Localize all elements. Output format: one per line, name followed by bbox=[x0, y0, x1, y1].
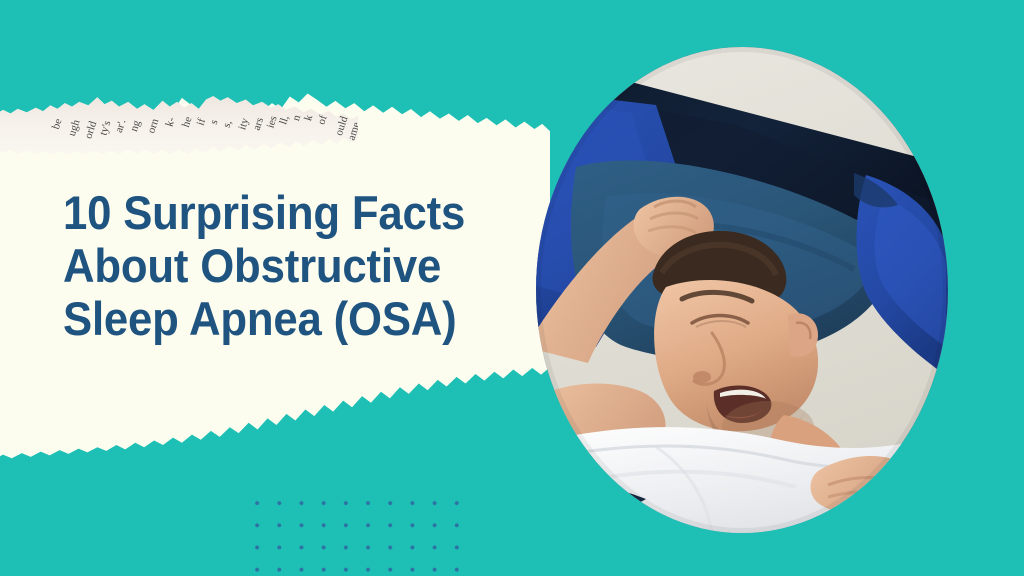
page-title: 10 Surprising Facts About Obstructive Sl… bbox=[63, 186, 500, 345]
newsprint-fragment: ar'. bbox=[113, 118, 129, 134]
sleeping-man-photo bbox=[536, 47, 948, 533]
newsprint-fragment: ty's bbox=[97, 119, 113, 137]
newsprint-fragment: s bbox=[208, 118, 221, 126]
newsprint-fragment: of bbox=[315, 114, 329, 126]
newsprint-fragment: ugh bbox=[66, 118, 83, 137]
headline-line-2: About Obstructive bbox=[63, 239, 500, 292]
newsprint-fragment: ng bbox=[128, 119, 143, 133]
newsprint-fragment: orld bbox=[82, 120, 99, 141]
newsprint-fragment: k bbox=[302, 114, 315, 123]
newsprint-fragment: ll, bbox=[277, 114, 291, 126]
banner-canvas: be ugh orld ty's ar'. ng orn k- he if s … bbox=[0, 0, 1024, 576]
newsprint-fragment: if bbox=[195, 117, 208, 127]
dot-grid-decoration bbox=[244, 488, 472, 576]
newsprint-fragment: k- bbox=[163, 116, 177, 128]
newsprint-fragment: ars bbox=[251, 116, 266, 132]
newsprint-fragment: s, bbox=[221, 119, 235, 129]
headline-line-1: 10 Surprising Facts bbox=[63, 186, 500, 239]
newsprint-fragment: he bbox=[180, 115, 195, 129]
sleeping-man-illustration bbox=[536, 47, 948, 533]
newsprint-fragment: ity bbox=[236, 117, 251, 132]
newsprint-fragment: orn bbox=[145, 117, 161, 135]
newsprint-fragment: be bbox=[50, 117, 65, 131]
headline-line-3: Sleep Apnea (OSA) bbox=[63, 292, 500, 345]
